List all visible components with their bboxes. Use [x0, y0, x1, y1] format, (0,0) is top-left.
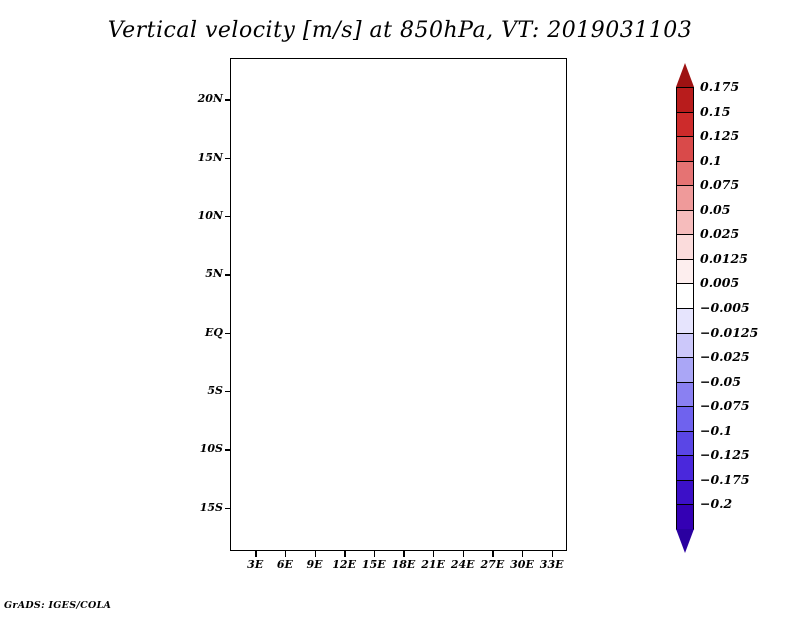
colorbar-tick-label: 0.125: [700, 128, 739, 143]
x-axis-tick-label: 33E: [532, 558, 572, 571]
colorbar-tick-label: 0.05: [700, 202, 730, 217]
y-axis-tick-mark: [225, 333, 231, 334]
colorbar-segment[interactable]: [676, 210, 694, 236]
x-axis-tick-mark: [433, 551, 434, 557]
colorbar-min-arrow: [676, 529, 694, 553]
x-axis-tick-mark: [492, 551, 493, 557]
colorbar-max-arrow: [676, 63, 694, 87]
colorbar-segment[interactable]: [676, 431, 694, 457]
colorbar-tick-label: −0.175: [700, 472, 750, 487]
y-axis-tick-mark: [225, 99, 231, 100]
x-axis-tick-mark: [463, 551, 464, 557]
y-axis-tick-mark: [225, 216, 231, 217]
x-axis-tick-mark: [344, 551, 345, 557]
colorbar-tick-label: −0.0125: [700, 325, 758, 340]
x-axis-tick-mark: [255, 551, 256, 557]
y-axis-tick-label: 20N: [185, 92, 223, 105]
colorbar-segment[interactable]: [676, 234, 694, 260]
y-axis-tick-label: 10S: [185, 442, 223, 455]
y-axis-tick-mark: [225, 391, 231, 392]
y-axis-tick-label: 15N: [185, 151, 223, 164]
colorbar-segment[interactable]: [676, 480, 694, 506]
colorbar-segment[interactable]: [676, 406, 694, 432]
y-axis-tick-label: 5S: [185, 384, 223, 397]
colorbar-tick-label: −0.2: [700, 496, 732, 511]
colorbar-tick-label: −0.075: [700, 398, 750, 413]
colorbar-segment[interactable]: [676, 308, 694, 334]
y-axis-tick-mark: [225, 274, 231, 275]
colorbar-segment[interactable]: [676, 87, 694, 113]
colorbar-segment[interactable]: [676, 161, 694, 187]
y-axis-tick-label: 5N: [185, 267, 223, 280]
x-axis-tick-mark: [403, 551, 404, 557]
colorbar-segment[interactable]: [676, 112, 694, 138]
colorbar-tick-label: 0.025: [700, 226, 739, 241]
x-axis-tick-mark: [552, 551, 553, 557]
colorbar[interactable]: [676, 63, 694, 553]
colorbar-segment[interactable]: [676, 357, 694, 383]
x-axis-tick-mark: [315, 551, 316, 557]
page-title: Vertical velocity [m/s] at 850hPa, VT: 2…: [0, 18, 800, 43]
grads-credit: GrADS: IGES/COLA: [4, 600, 111, 611]
x-axis-tick-mark: [522, 551, 523, 557]
colorbar-tick-label: −0.05: [700, 374, 741, 389]
colorbar-tick-label: −0.025: [700, 349, 750, 364]
map-plot-area: [230, 58, 567, 551]
y-axis-tick-label: 15S: [185, 501, 223, 514]
y-axis-tick-mark: [225, 449, 231, 450]
x-axis-tick-mark: [285, 551, 286, 557]
y-axis-tick-mark: [225, 508, 231, 509]
y-axis-tick-mark: [225, 158, 231, 159]
colorbar-segment[interactable]: [676, 259, 694, 285]
colorbar-tick-label: 0.175: [700, 79, 739, 94]
colorbar-segment[interactable]: [676, 283, 694, 309]
colorbar-tick-label: 0.075: [700, 177, 739, 192]
colorbar-segment[interactable]: [676, 504, 694, 530]
colorbar-tick-label: 0.005: [700, 275, 739, 290]
colorbar-segment[interactable]: [676, 455, 694, 481]
y-axis-tick-label: 10N: [185, 209, 223, 222]
colorbar-tick-label: −0.125: [700, 447, 750, 462]
colorbar-tick-label: −0.1: [700, 423, 732, 438]
colorbar-segment[interactable]: [676, 185, 694, 211]
colorbar-segment[interactable]: [676, 333, 694, 359]
x-axis-tick-mark: [374, 551, 375, 557]
colorbar-tick-label: 0.0125: [700, 251, 748, 266]
colorbar-tick-label: 0.15: [700, 104, 730, 119]
colorbar-segment[interactable]: [676, 136, 694, 162]
colorbar-tick-label: 0.1: [700, 153, 722, 168]
colorbar-tick-label: −0.005: [700, 300, 750, 315]
colorbar-segment[interactable]: [676, 382, 694, 408]
y-axis-tick-label: EQ: [185, 326, 223, 339]
